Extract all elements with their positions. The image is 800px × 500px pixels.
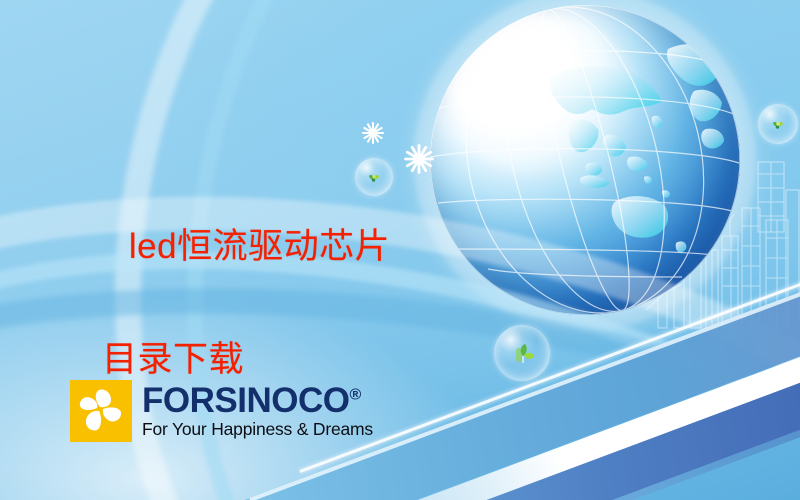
- pinwheel-icon: [767, 113, 789, 135]
- starburst-flower-icon: [362, 122, 384, 144]
- leaf-sprout-icon: [505, 336, 539, 370]
- brand-logo: FORSINOCO® For Your Happiness & Dreams: [70, 380, 373, 442]
- logo-name-word: FORSINOCO: [142, 381, 349, 420]
- globe-glow: [414, 0, 756, 331]
- promo-banner: led恒流驱动芯片 目录下载 FORSINOCO® For Your Happi…: [0, 0, 800, 500]
- page-title: led恒流驱动芯片 目录下载: [88, 162, 390, 500]
- logo-brand-name: FORSINOCO®: [142, 383, 373, 418]
- bubble-with-pinwheel: [758, 104, 798, 144]
- diagonal-band-dark: [322, 330, 800, 500]
- logo-text-block: FORSINOCO® For Your Happiness & Dreams: [142, 383, 373, 439]
- diagonal-band-blue: [325, 352, 800, 500]
- bubble-with-leaves: [494, 325, 550, 381]
- headline-line-1: led恒流驱动芯片: [129, 227, 390, 266]
- logo-tagline: For Your Happiness & Dreams: [142, 421, 373, 439]
- registered-trademark-symbol: ®: [349, 387, 360, 404]
- world-globe-graphic: [430, 5, 740, 315]
- four-petal-pinwheel-icon: [70, 380, 132, 442]
